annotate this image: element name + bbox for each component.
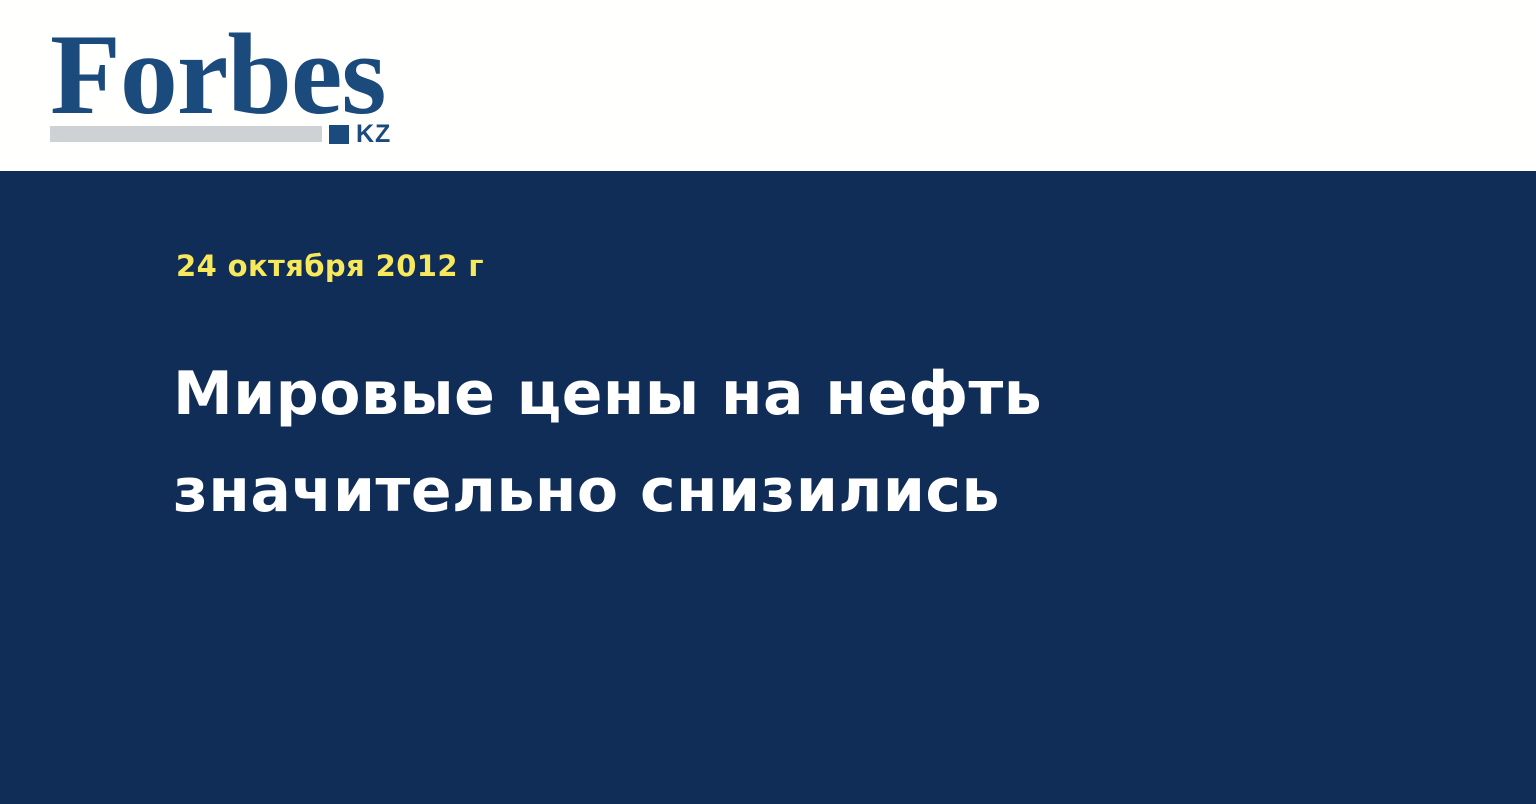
article-title: Мировые цены на нефть значительно снизил… [173,346,1073,540]
article-date: 24 октября 2012 г [176,249,484,283]
article-card: Forbes KZ 24 октября 2012 г Мировые цены… [0,0,1536,804]
site-header: Forbes KZ [0,0,1536,171]
logo-rule [50,126,322,142]
logo-kz-label: KZ [356,122,391,147]
forbes-kz-logo[interactable]: Forbes KZ [50,26,410,148]
forbes-wordmark: Forbes [50,17,386,133]
logo-square-icon [329,125,349,144]
hero-section: 24 октября 2012 г Мировые цены на нефть … [0,171,1536,804]
